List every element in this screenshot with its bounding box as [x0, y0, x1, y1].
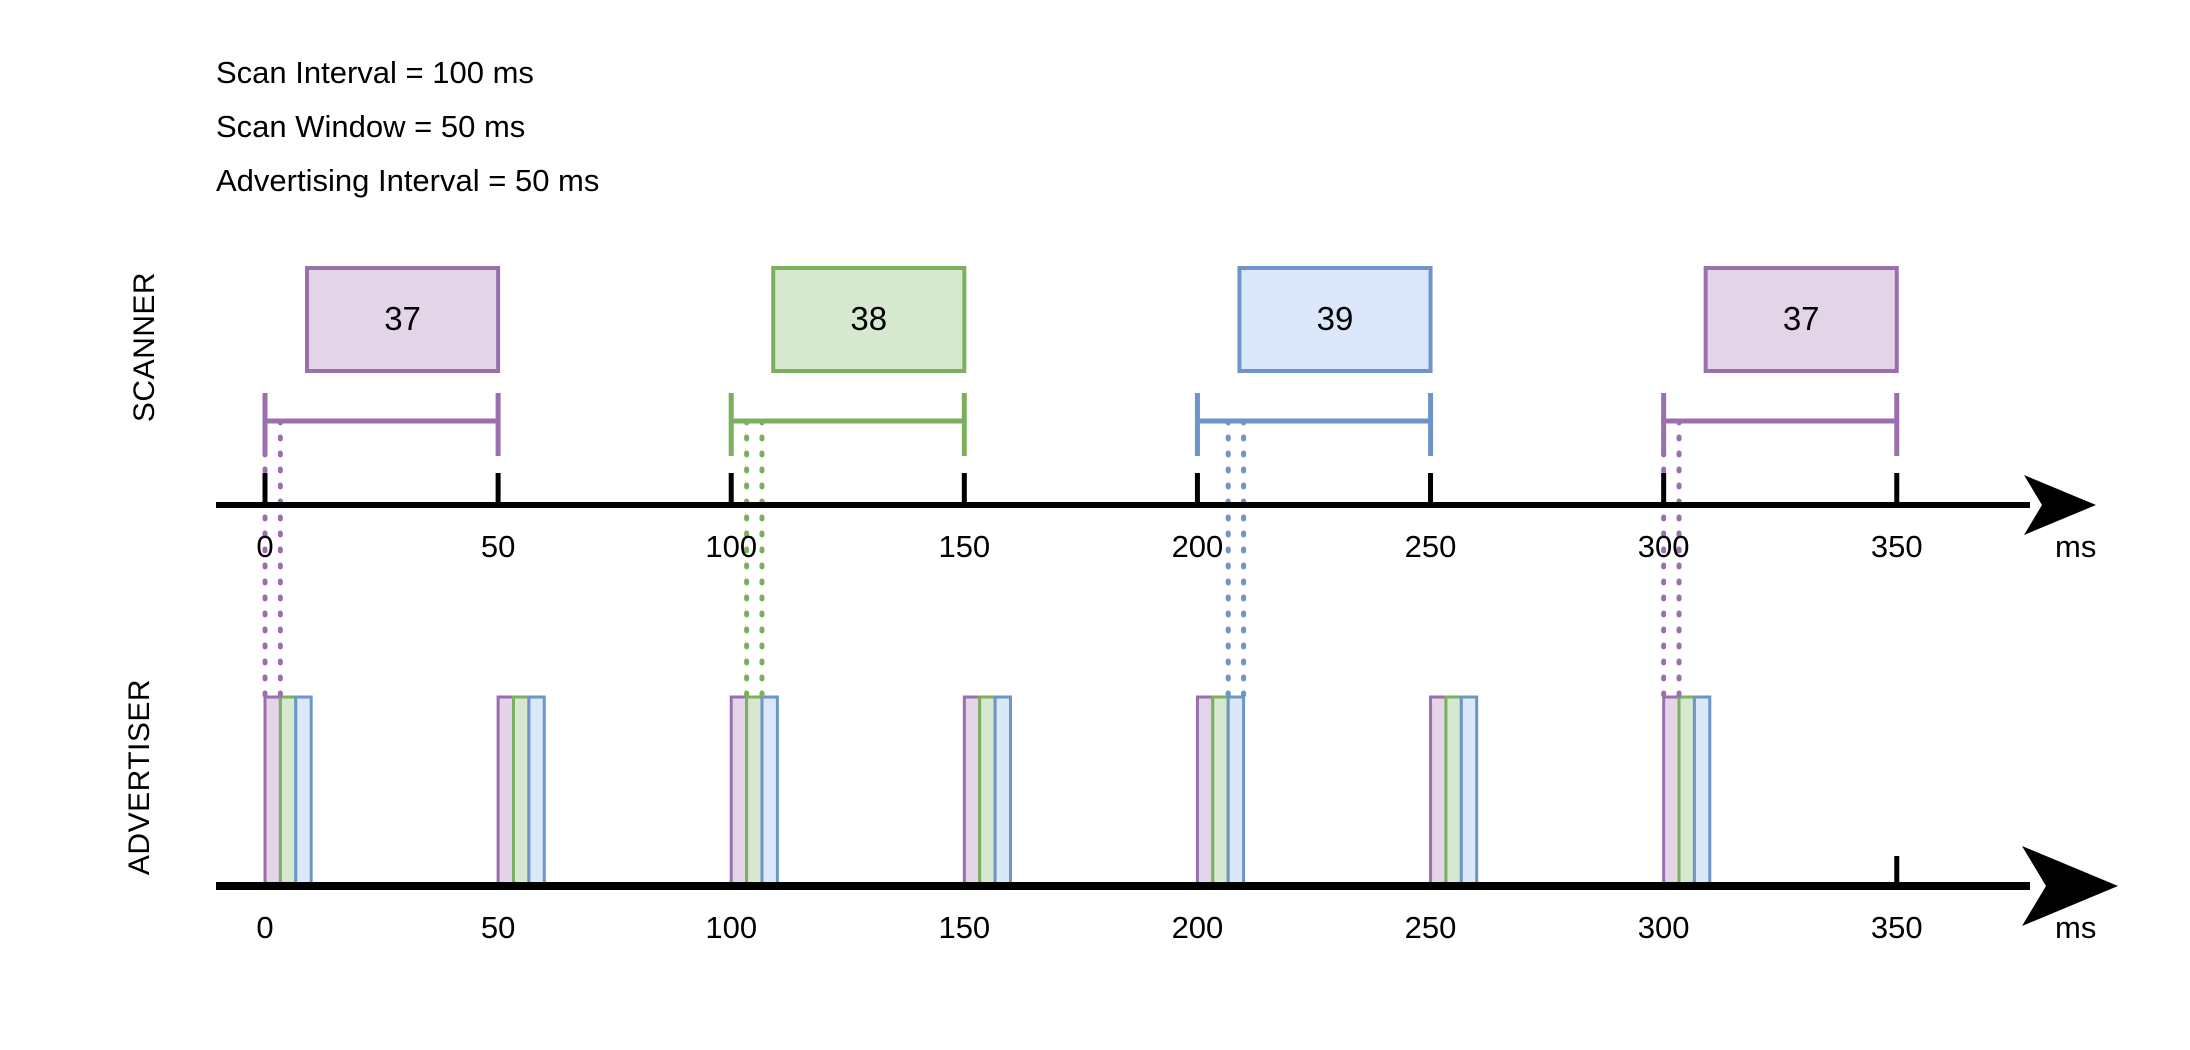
scanner-axis-tick-label: 0 — [256, 529, 273, 564]
advertiser-axis-tick-label: 150 — [938, 910, 990, 945]
diagram-svg: 37383937050100150200250300350ms050100150… — [0, 0, 2190, 1050]
advertiser-pulse-ch37 — [265, 697, 280, 886]
scanner-channel-number-37: 37 — [1783, 300, 1820, 337]
advertiser-pulse-ch37 — [1197, 697, 1212, 886]
advertiser-axis-tick-label: 350 — [1871, 910, 1923, 945]
scanner-axis-tick-label: 250 — [1405, 529, 1457, 564]
scanner-axis-tick-label: 200 — [1172, 529, 1224, 564]
advertiser-pulse-ch38 — [747, 697, 762, 886]
advertiser-pulse-ch39 — [1694, 697, 1709, 886]
advertiser-pulse-ch37 — [964, 697, 979, 886]
advertiser-axis-tick-label: 100 — [705, 910, 757, 945]
advertiser-pulse-ch39 — [1461, 697, 1476, 886]
advertiser-pulse-ch38 — [1213, 697, 1228, 886]
advertiser-pulse-ch39 — [529, 697, 544, 886]
advertiser-pulse-ch39 — [1228, 697, 1243, 886]
advertiser-axis-tick-label: 0 — [256, 910, 273, 945]
scanner-channel-number-39: 39 — [1317, 300, 1354, 337]
advertiser-pulse-ch39 — [762, 697, 777, 886]
advertiser-pulse-ch38 — [280, 697, 295, 886]
advertiser-pulse-ch39 — [995, 697, 1010, 886]
advertiser-pulse-ch38 — [980, 697, 995, 886]
scanner-axis-tick-label: 50 — [481, 529, 515, 564]
scanner-axis-tick-label: 350 — [1871, 529, 1923, 564]
scanner-channel-number-38: 38 — [850, 300, 887, 337]
advertiser-axis-tick-label: 300 — [1638, 910, 1690, 945]
advertiser-pulse-ch38 — [1446, 697, 1461, 886]
advertiser-pulse-ch37 — [498, 697, 513, 886]
advertiser-pulse-ch37 — [731, 697, 746, 886]
timing-diagram-canvas: Scan Interval = 100 ms Scan Window = 50 … — [0, 0, 2190, 1050]
scanner-axis-tick-label: 100 — [705, 529, 757, 564]
advertiser-axis-tick-label: 200 — [1172, 910, 1224, 945]
advertiser-axis-tick-label: 250 — [1405, 910, 1457, 945]
advertiser-pulse-ch38 — [513, 697, 528, 886]
advertiser-pulse-ch37 — [1431, 697, 1446, 886]
scanner-channel-number-37: 37 — [384, 300, 421, 337]
generated-geometry: 37383937050100150200250300350ms050100150… — [216, 268, 2096, 945]
advertiser-axis-unit: ms — [2055, 910, 2096, 945]
scanner-axis-tick-label: 300 — [1638, 529, 1690, 564]
scanner-axis-tick-label: 150 — [938, 529, 990, 564]
advertiser-axis-tick-label: 50 — [481, 910, 515, 945]
advertiser-pulse-ch39 — [296, 697, 311, 886]
advertiser-pulse-ch38 — [1679, 697, 1694, 886]
scanner-axis-unit: ms — [2055, 529, 2096, 564]
advertiser-pulse-ch37 — [1664, 697, 1679, 886]
